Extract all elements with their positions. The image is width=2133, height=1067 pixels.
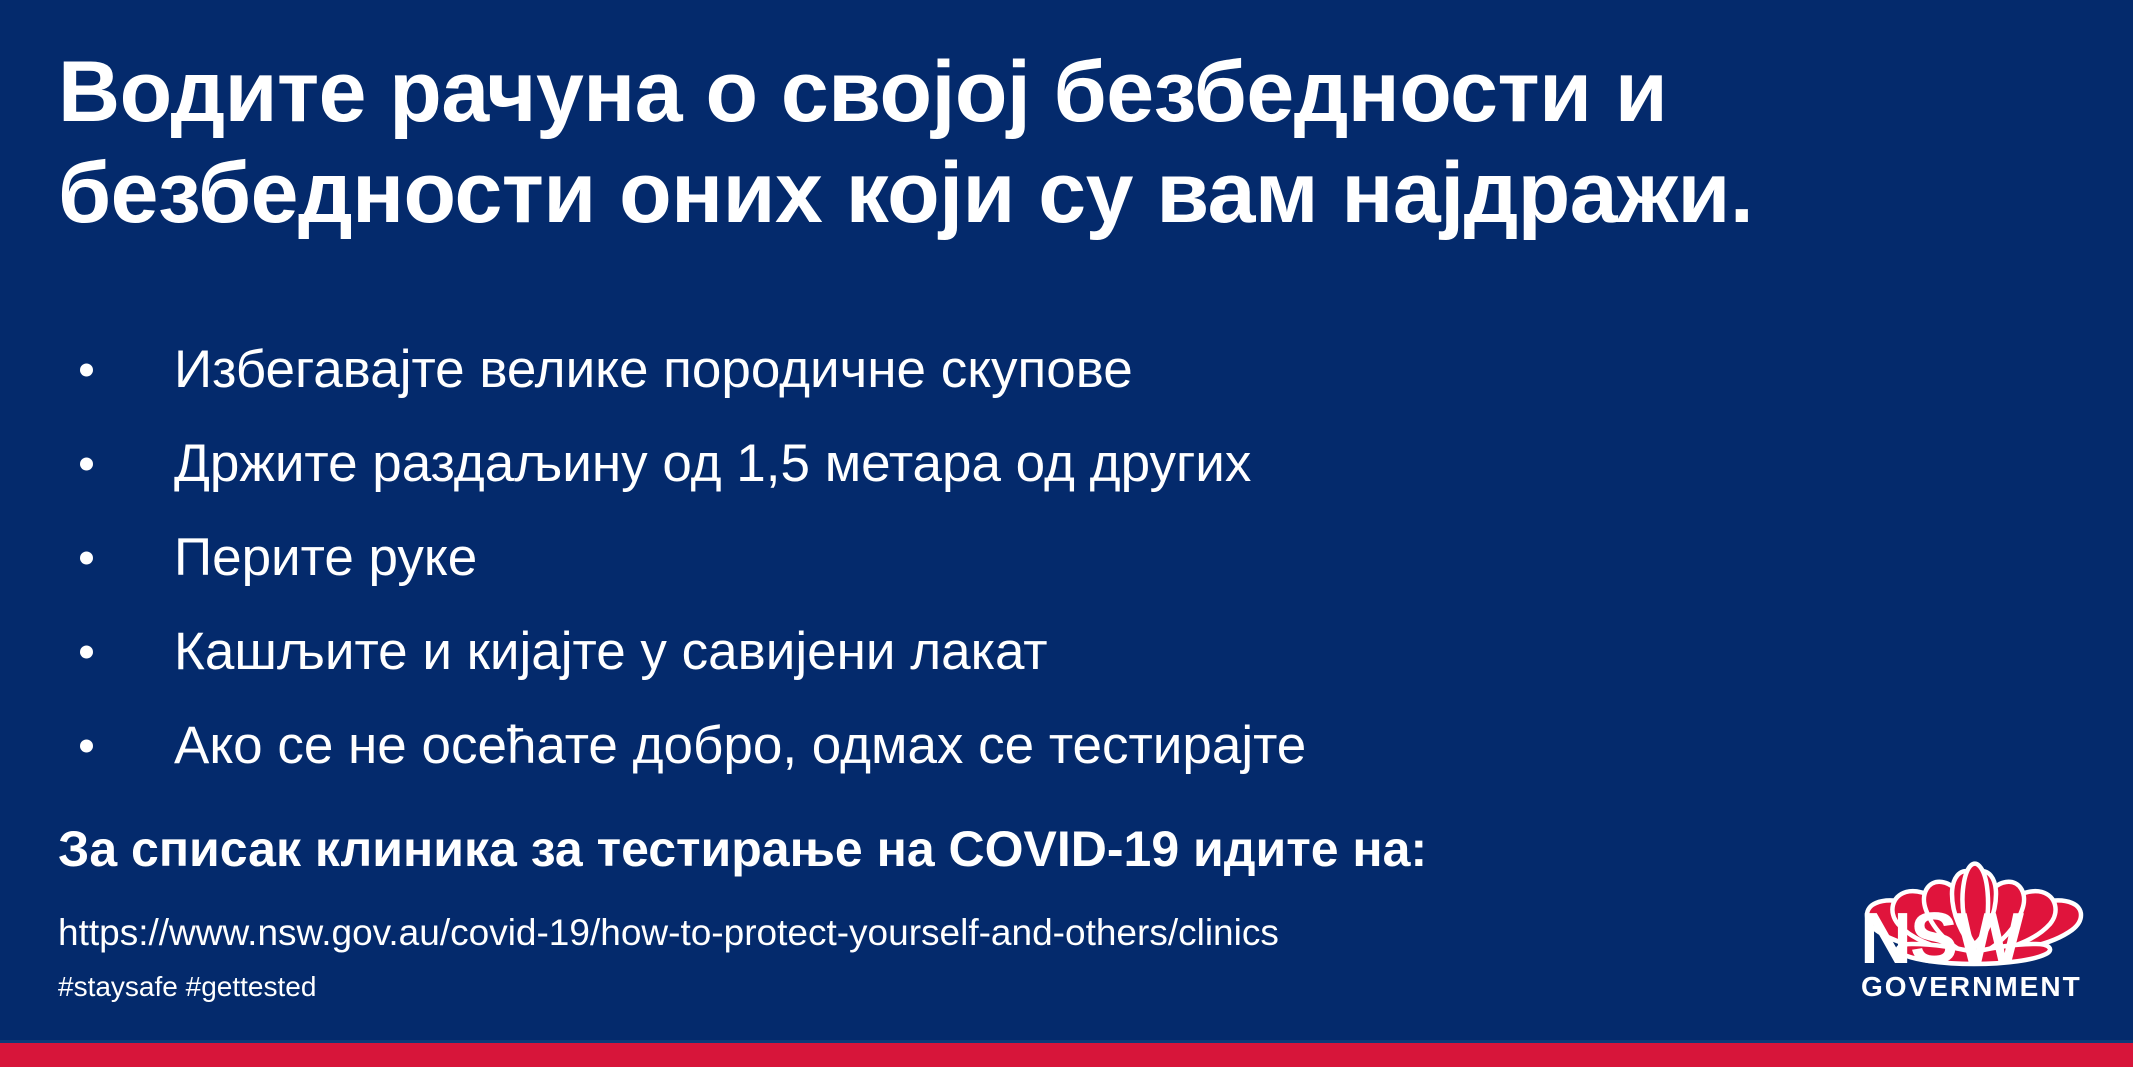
safety-advice-list: Избегавајте велике породичне скупове Држ…: [58, 340, 1758, 810]
headline-line-2: безбедности оних који су вам најдражи.: [58, 143, 2048, 244]
bullet-dot-icon: [80, 552, 93, 565]
headline-line-1: Водите рачуна о својој безбедности и: [58, 42, 2048, 143]
clinics-url-link[interactable]: https://www.nsw.gov.au/covid-19/how-to-p…: [58, 913, 1279, 954]
bullet-dot-icon: [80, 364, 93, 377]
logo-government-text: GOVERNMENT: [1856, 971, 2092, 1003]
list-item-label: Ако се не осећате добро, одмах се тестир…: [174, 716, 1306, 775]
list-item-label: Перите руке: [174, 528, 477, 587]
list-item: Кашљите и кијајте у савијени лакат: [58, 622, 1758, 683]
list-item-label: Избегавајте велике породичне скупове: [174, 340, 1133, 399]
logo-nsw-text: NSW: [1856, 908, 2092, 971]
page-title: Водите рачуна о својој безбедности и без…: [58, 42, 2048, 245]
hashtags: #staysafe #gettested: [58, 972, 316, 1003]
covid-safety-poster: Водите рачуна о својој безбедности и без…: [0, 0, 2133, 1067]
list-item-label: Кашљите и кијајте у савијени лакат: [174, 622, 1048, 681]
bullet-dot-icon: [80, 458, 93, 471]
list-item: Перите руке: [58, 528, 1758, 589]
bullet-dot-icon: [80, 646, 93, 659]
list-item: Ако се не осећате добро, одмах се тестир…: [58, 716, 1758, 777]
bottom-red-bar: [0, 1043, 2133, 1067]
nsw-government-logo: NSW GOVERNMENT: [1856, 796, 2092, 1018]
list-item-label: Држите раздаљину од 1,5 метара од других: [174, 434, 1251, 493]
nsw-wordmark: NSW GOVERNMENT: [1856, 908, 2092, 1004]
list-item: Држите раздаљину од 1,5 метара од других: [58, 434, 1758, 495]
cta-heading: За списак клиника за тестирање на COVID-…: [58, 822, 1427, 877]
bullet-dot-icon: [80, 740, 93, 753]
list-item: Избегавајте велике породичне скупове: [58, 340, 1758, 401]
